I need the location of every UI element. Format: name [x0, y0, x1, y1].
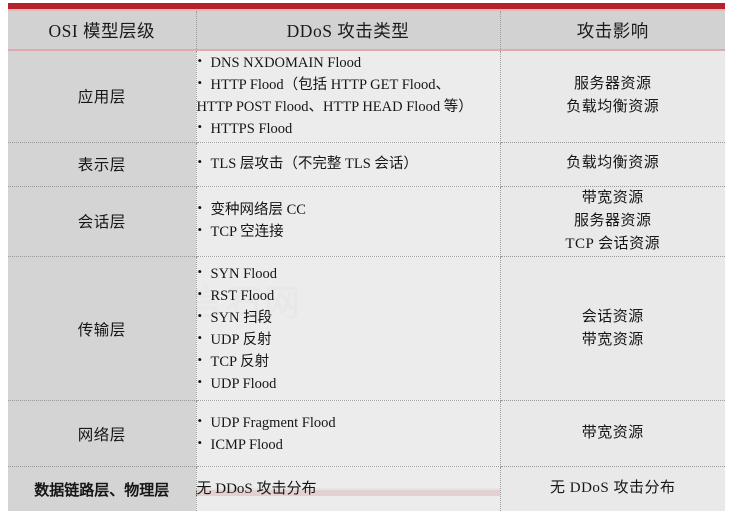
cell-impact: 带宽资源 服务器资源 TCP 会话资源 [500, 186, 725, 257]
cell-impact: 带宽资源 [500, 401, 725, 467]
list-item: ICMP Flood [197, 434, 500, 456]
attack-list: DNS NXDOMAIN Flood HTTP Flood（包括 HTTP GE… [197, 52, 500, 140]
list-item: UDP Flood [197, 373, 500, 395]
header-cell-attack-impact: 攻击影响 [500, 11, 725, 50]
impact-line: 带宽资源 [501, 187, 726, 210]
attack-text: 无 DDoS 攻击分布 [197, 478, 500, 501]
impact-line: TCP 会话资源 [501, 233, 726, 256]
attack-list: UDP Fragment Flood ICMP Flood [197, 412, 500, 456]
cell-layer-name: 传输层 [8, 257, 196, 401]
impact-line: 服务器资源 [501, 73, 726, 96]
osi-ddos-table: OSI 模型层级 DDoS 攻击类型 攻击影响 应用层 DNS NXDOMAIN… [8, 11, 725, 511]
header-row: OSI 模型层级 DDoS 攻击类型 攻击影响 [8, 11, 725, 50]
list-item: 变种网络层 CC [197, 199, 500, 221]
list-item: HTTPS Flood [197, 118, 500, 140]
impact-line: 负载均衡资源 [501, 152, 726, 175]
list-item: UDP Fragment Flood [197, 412, 500, 434]
table-row: 网络层 UDP Fragment Flood ICMP Flood 带宽资源 [8, 401, 725, 467]
table-row: 传输层 SYN Flood RST Flood SYN 扫段 UDP 反射 TC… [8, 257, 725, 401]
table-row: 会话层 变种网络层 CC TCP 空连接 带宽资源 服务器资源 TCP 会话资源 [8, 186, 725, 257]
impact-line: 带宽资源 [501, 329, 726, 352]
header-cell-osi-layer: OSI 模型层级 [8, 11, 196, 50]
cell-impact: 负载均衡资源 [500, 142, 725, 186]
list-item: SYN Flood [197, 263, 500, 285]
cell-attack-list: 变种网络层 CC TCP 空连接 [196, 186, 500, 257]
attack-list: 变种网络层 CC TCP 空连接 [197, 199, 500, 243]
cell-layer-name: 应用层 [8, 50, 196, 142]
table-body: 应用层 DNS NXDOMAIN Flood HTTP Flood（包括 HTT… [8, 50, 725, 511]
cell-impact: 服务器资源 负载均衡资源 [500, 50, 725, 142]
cell-layer-name: 会话层 [8, 186, 196, 257]
impact-line: 带宽资源 [501, 422, 726, 445]
table-header: OSI 模型层级 DDoS 攻击类型 攻击影响 [8, 11, 725, 50]
impact-line: 负载均衡资源 [501, 96, 726, 119]
list-item: DNS NXDOMAIN Flood [197, 52, 500, 74]
list-item: TCP 反射 [197, 351, 500, 373]
list-item-continuation: HTTP POST Flood、HTTP HEAD Flood 等） [197, 96, 500, 118]
impact-line: 服务器资源 [501, 210, 726, 233]
attack-list: SYN Flood RST Flood SYN 扫段 UDP 反射 TCP 反射… [197, 263, 500, 395]
list-item: TLS 层攻击（不完整 TLS 会话） [197, 153, 500, 175]
list-item: HTTP Flood（包括 HTTP GET Flood、 [197, 74, 500, 96]
list-item: UDP 反射 [197, 329, 500, 351]
list-item: TCP 空连接 [197, 221, 500, 243]
cell-layer-name: 网络层 [8, 401, 196, 467]
cell-attack-list: DNS NXDOMAIN Flood HTTP Flood（包括 HTTP GE… [196, 50, 500, 142]
cell-layer-name: 数据链路层、物理层 [8, 467, 196, 511]
list-item: SYN 扫段 [197, 307, 500, 329]
cell-attack-list: 无 DDoS 攻击分布 [196, 467, 500, 511]
cell-attack-list: SYN Flood RST Flood SYN 扫段 UDP 反射 TCP 反射… [196, 257, 500, 401]
cell-attack-list: TLS 层攻击（不完整 TLS 会话） [196, 142, 500, 186]
header-cell-attack-type: DDoS 攻击类型 [196, 11, 500, 50]
table-row: 数据链路层、物理层 无 DDoS 攻击分布 无 DDoS 攻击分布 [8, 467, 725, 511]
attack-list: TLS 层攻击（不完整 TLS 会话） [197, 153, 500, 175]
table-row: 表示层 TLS 层攻击（不完整 TLS 会话） 负载均衡资源 [8, 142, 725, 186]
impact-line: 无 DDoS 攻击分布 [501, 477, 726, 500]
list-item: RST Flood [197, 285, 500, 307]
impact-line: 会话资源 [501, 306, 726, 329]
cell-attack-list: UDP Fragment Flood ICMP Flood [196, 401, 500, 467]
cell-impact: 会话资源 带宽资源 [500, 257, 725, 401]
cell-impact: 无 DDoS 攻击分布 [500, 467, 725, 511]
ddos-osi-table-page: 言石网 OSI 模型层级 DDoS 攻击类型 攻击影响 应用层 DNS NXDO… [0, 0, 733, 500]
cell-layer-name: 表示层 [8, 142, 196, 186]
table-row: 应用层 DNS NXDOMAIN Flood HTTP Flood（包括 HTT… [8, 50, 725, 142]
